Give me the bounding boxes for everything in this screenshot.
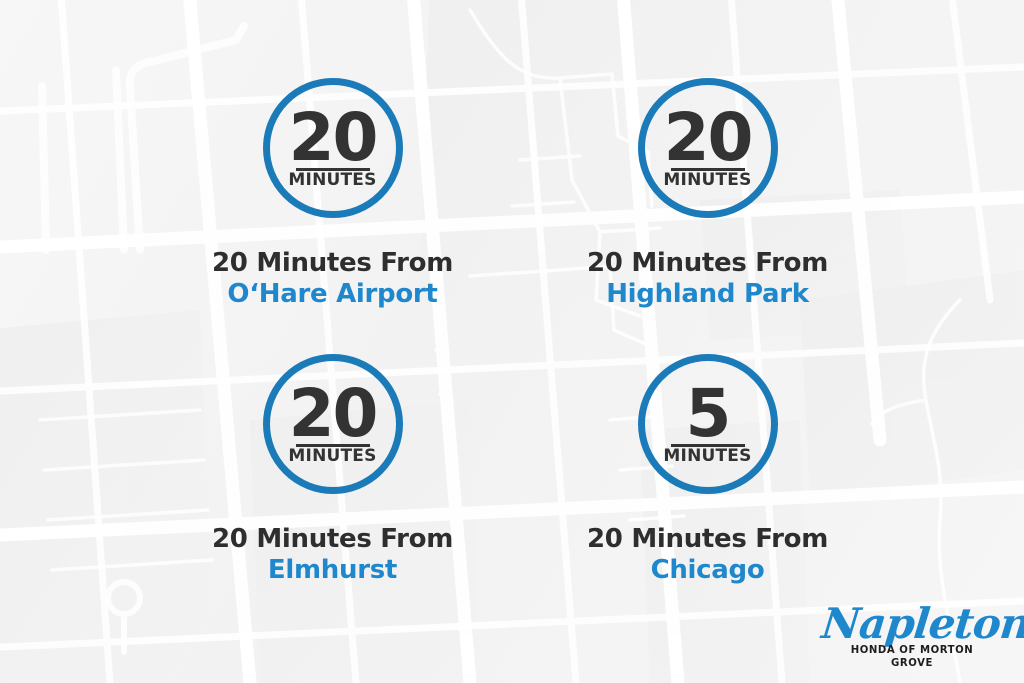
distance-card: 5 MINUTES 20 Minutes From Chicago — [535, 354, 880, 618]
promo-graphic: 20 MINUTES 20 Minutes From O‘Hare Airpor… — [0, 0, 1024, 683]
badge-number: 20 — [289, 385, 377, 443]
distance-card-grid: 20 MINUTES 20 Minutes From O‘Hare Airpor… — [160, 78, 880, 618]
minutes-badge: 20 MINUTES — [263, 354, 403, 494]
card-caption: 20 Minutes From Chicago — [587, 524, 828, 585]
caption-location: Highland Park — [587, 279, 828, 310]
badge-unit-label: MINUTES — [663, 448, 751, 465]
badge-number: 20 — [664, 109, 752, 167]
badge-number: 20 — [289, 109, 377, 167]
badge-number: 5 — [686, 385, 730, 443]
caption-primary: 20 Minutes From — [212, 248, 453, 279]
logo-wordmark: Napleton — [820, 603, 1004, 645]
dealer-logo: Napleton HONDA OF MORTON GROVE — [822, 603, 1002, 669]
minutes-badge: 20 MINUTES — [638, 78, 778, 218]
card-caption: 20 Minutes From Highland Park — [587, 248, 828, 309]
caption-location: Elmhurst — [212, 555, 453, 586]
card-caption: 20 Minutes From Elmhurst — [212, 524, 453, 585]
minutes-badge: 20 MINUTES — [263, 78, 403, 218]
caption-location: O‘Hare Airport — [212, 279, 453, 310]
caption-primary: 20 Minutes From — [212, 524, 453, 555]
caption-primary: 20 Minutes From — [587, 248, 828, 279]
badge-unit-label: MINUTES — [663, 172, 751, 189]
minutes-badge: 5 MINUTES — [638, 354, 778, 494]
badge-unit-label: MINUTES — [288, 172, 376, 189]
distance-card: 20 MINUTES 20 Minutes From O‘Hare Airpor… — [160, 78, 505, 342]
distance-card: 20 MINUTES 20 Minutes From Elmhurst — [160, 354, 505, 618]
caption-location: Chicago — [587, 555, 828, 586]
card-caption: 20 Minutes From O‘Hare Airport — [212, 248, 453, 309]
caption-primary: 20 Minutes From — [587, 524, 828, 555]
distance-card: 20 MINUTES 20 Minutes From Highland Park — [535, 78, 880, 342]
logo-subtitle: HONDA OF MORTON GROVE — [829, 643, 995, 669]
badge-unit-label: MINUTES — [288, 448, 376, 465]
